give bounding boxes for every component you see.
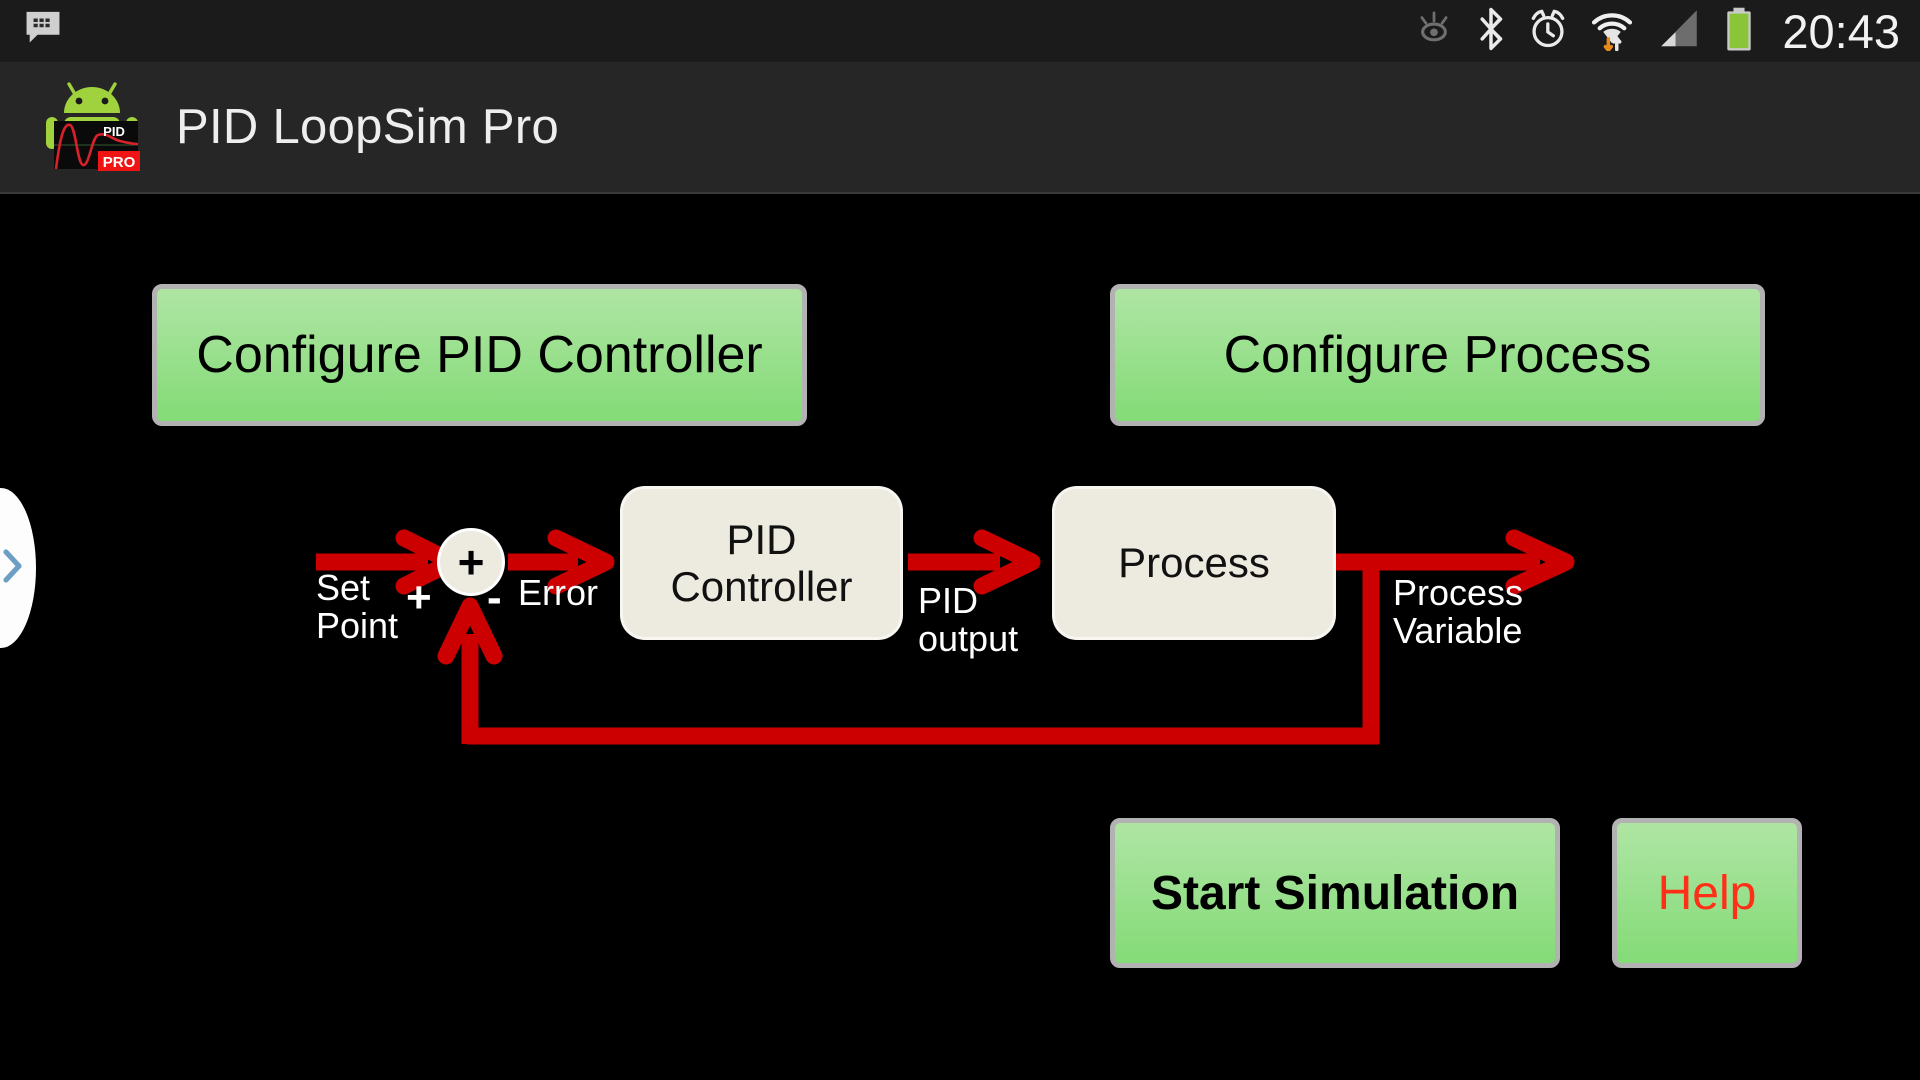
app-icon-android-pid-pro: PID PRO bbox=[36, 79, 154, 175]
plus-sign-label: + bbox=[406, 576, 432, 620]
minus-sign-label: - bbox=[487, 576, 502, 620]
wifi-icon bbox=[1588, 7, 1636, 56]
summing-junction-plus-symbol: + bbox=[458, 539, 485, 585]
set-point-label: Set Point bbox=[316, 569, 398, 645]
alarm-clock-icon bbox=[1526, 7, 1570, 56]
pid-output-label: PID output bbox=[918, 582, 1018, 658]
app-icon-badge-pid: PID bbox=[103, 124, 125, 139]
status-bar: 20:43 bbox=[0, 0, 1920, 62]
status-bar-right-icons: 20:43 bbox=[1412, 6, 1900, 57]
bbm-message-icon bbox=[22, 8, 64, 55]
pid-loop-block-diagram: + PID Controller Process Set Point + - E… bbox=[0, 194, 1920, 1080]
app-root: 20:43 bbox=[0, 0, 1920, 1080]
app-icon-badge-pro: PRO bbox=[103, 154, 136, 171]
page-title: PID LoopSim Pro bbox=[176, 99, 559, 155]
bluetooth-icon bbox=[1474, 7, 1508, 56]
status-bar-clock: 20:43 bbox=[1782, 8, 1900, 55]
battery-icon bbox=[1722, 6, 1756, 57]
status-bar-left-icons bbox=[22, 8, 64, 55]
error-label: Error bbox=[518, 574, 598, 612]
eye-care-icon bbox=[1412, 7, 1456, 56]
pid-controller-block: PID Controller bbox=[623, 489, 900, 637]
process-block: Process bbox=[1055, 489, 1333, 637]
cellular-signal-icon bbox=[1654, 7, 1704, 56]
app-title-bar: PID PRO PID LoopSim Pro bbox=[0, 62, 1920, 194]
process-variable-label: Process Variable bbox=[1393, 574, 1523, 650]
